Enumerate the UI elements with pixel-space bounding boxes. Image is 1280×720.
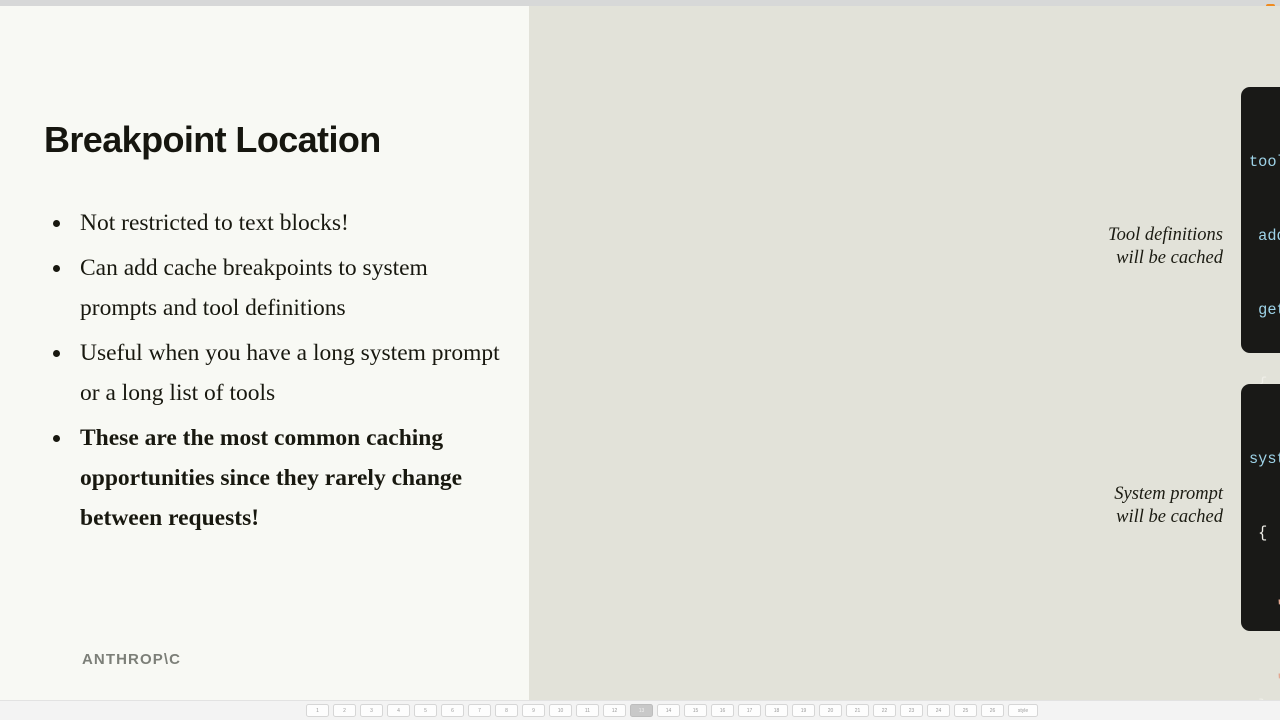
slide-thumbnail[interactable]: 7	[468, 704, 491, 717]
slide-left-pane: Breakpoint Location Not restricted to te…	[0, 6, 529, 700]
code-token-identifier: add_duration_to_datetime_schema	[1249, 227, 1280, 245]
code-line: tools = [	[1249, 150, 1280, 175]
slide-thumbnail[interactable]: 23	[900, 704, 923, 717]
slide-thumbnail[interactable]: 1	[306, 704, 329, 717]
code-line: {	[1249, 521, 1280, 546]
slide-thumbnail-strip[interactable]: 1234567891011121314151617181920212223242…	[0, 700, 1280, 720]
code-line: "type": "text",	[1249, 595, 1280, 620]
slide-thumbnail[interactable]: style	[1008, 704, 1038, 717]
slide-thumbnail[interactable]: 11	[576, 704, 599, 717]
annotation-line: will be cached	[1053, 247, 1223, 270]
slide-thumbnail[interactable]: 16	[711, 704, 734, 717]
annotation-line: will be cached	[1053, 506, 1223, 529]
slide-thumbnail[interactable]: 12	[603, 704, 626, 717]
slide-thumbnail[interactable]: 14	[657, 704, 680, 717]
page-title: Breakpoint Location	[44, 119, 381, 161]
slide-thumbnail[interactable]: 25	[954, 704, 977, 717]
slide-thumbnail[interactable]: 21	[846, 704, 869, 717]
annotation-line: System prompt	[1053, 483, 1223, 506]
slide-thumbnail[interactable]: 17	[738, 704, 761, 717]
slide-thumbnail[interactable]: 2	[333, 704, 356, 717]
list-item: Not restricted to text blocks!	[44, 203, 509, 243]
code-token-key: "type"	[1277, 598, 1280, 616]
slide-thumbnail[interactable]: 26	[981, 704, 1004, 717]
code-token-punct: {	[1249, 524, 1267, 542]
code-block-tools: tools = [ add_duration_to_datetime_schem…	[1241, 87, 1280, 353]
slide-thumbnail[interactable]: 22	[873, 704, 896, 717]
slide-thumbnail[interactable]: 19	[792, 704, 815, 717]
bullet-text: Can add cache breakpoints to system prom…	[80, 255, 428, 321]
list-item: These are the most common caching opport…	[44, 418, 509, 538]
code-token-identifier: tools	[1249, 153, 1280, 171]
slide-thumbnail[interactable]: 8	[495, 704, 518, 717]
bullet-list: Not restricted to text blocks! Can add c…	[44, 203, 509, 543]
code-block-system: system = [ { "type": "text", "text": "Yo…	[1241, 384, 1280, 631]
bullet-text: Not restricted to text blocks!	[80, 210, 349, 236]
slide-canvas: Breakpoint Location Not restricted to te…	[0, 6, 1280, 700]
code-line: "text": "You are a senior software...",	[1249, 669, 1280, 694]
slide-thumbnail[interactable]: 3	[360, 704, 383, 717]
code-line: system = [	[1249, 447, 1280, 472]
slide-thumbnail[interactable]: 18	[765, 704, 788, 717]
code-token-identifier: get_current_datetime_schema	[1249, 301, 1280, 319]
anthropic-logo: ANTHROP\C	[82, 651, 181, 668]
bullet-text: Useful when you have a long system promp…	[80, 340, 500, 406]
slide-thumbnail[interactable]: 4	[387, 704, 410, 717]
presentation-viewer: Breakpoint Location Not restricted to te…	[0, 0, 1280, 720]
slide-thumbnail[interactable]: 6	[441, 704, 464, 717]
list-item: Can add cache breakpoints to system prom…	[44, 248, 509, 328]
slide-thumbnail[interactable]: 5	[414, 704, 437, 717]
annotation-system-prompt: System prompt will be cached	[1053, 483, 1223, 529]
code-token-identifier: system	[1249, 450, 1280, 468]
code-line: get_current_datetime_schema,	[1249, 298, 1280, 323]
slide-thumbnail[interactable]: 9	[522, 704, 545, 717]
slide-thumbnail[interactable]: 24	[927, 704, 950, 717]
list-item: Useful when you have a long system promp…	[44, 333, 509, 413]
annotation-tool-definitions: Tool definitions will be cached	[1053, 224, 1223, 270]
slide-thumbnail[interactable]: 20	[819, 704, 842, 717]
code-line: add_duration_to_datetime_schema,	[1249, 224, 1280, 249]
slide-thumbnail[interactable]: 15	[684, 704, 707, 717]
slide-thumbnail[interactable]: 13	[630, 704, 653, 717]
bullet-text: These are the most common caching opport…	[80, 425, 462, 531]
slide-right-pane: Tool definitions will be cached System p…	[529, 6, 1280, 700]
slide-thumbnail[interactable]: 10	[549, 704, 572, 717]
code-token-key: "text"	[1277, 672, 1280, 690]
annotation-line: Tool definitions	[1053, 224, 1223, 247]
